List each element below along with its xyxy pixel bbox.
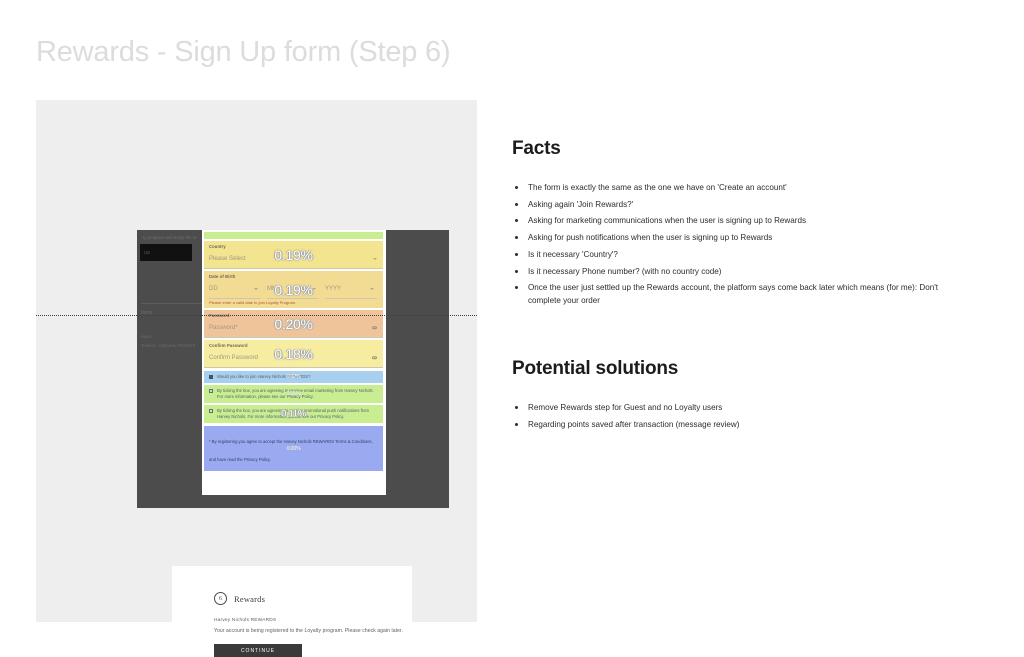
continue-button[interactable]: CONTINUE — [214, 644, 302, 657]
background-button[interactable]: UE — [140, 244, 192, 261]
signup-form-modal: Country Please Select 0.19% Date of Birt… — [202, 230, 386, 493]
facts-title: Facts — [512, 138, 942, 160]
checkbox-email-marketing[interactable]: By ticking the box, you are agreeing to … — [204, 385, 383, 403]
field-dob-day-value: DD — [209, 286, 218, 292]
field-dob-month-value: MM — [267, 286, 277, 292]
rewards-logo-icon: 6 — [214, 592, 227, 605]
chevron-down-icon — [254, 288, 258, 290]
field-dob-help: Please enter a valid date to join Loyalt… — [204, 299, 383, 308]
eye-icon[interactable] — [372, 326, 377, 329]
field-country-select[interactable]: Please Select — [204, 250, 383, 269]
card-message: Your account is being registered to the … — [214, 628, 403, 634]
terms-conditions-link[interactable]: Terms & Conditions — [335, 439, 371, 444]
terms-text-before: * By registering you agree to accept the… — [209, 439, 335, 444]
rewards-logo: 6 Rewards — [214, 592, 265, 605]
list-item: Is it necessary Phone number? (with no c… — [512, 265, 942, 278]
background-subtext-2: Telecoe, Holywell, Flintshire — [141, 343, 195, 348]
facts-list: The form is exactly the same as the one … — [512, 181, 942, 308]
list-item: The form is exactly the same as the one … — [512, 181, 942, 194]
background-divider — [141, 303, 203, 304]
field-date-of-birth[interactable]: Date of Birth DD MM YYYY — [204, 271, 383, 308]
app-heatmap-screenshot: ty program and enjoy the re UE tions ewe… — [137, 230, 449, 508]
field-dob-label: Date of Birth — [204, 271, 383, 280]
terms-and-conditions-block[interactable]: * By registering you agree to accept the… — [204, 426, 383, 471]
list-item: Asking for marketing communications when… — [512, 214, 942, 227]
field-dob-day[interactable]: DD — [209, 280, 261, 299]
field-dob-year-value: YYYY — [325, 286, 341, 292]
rewards-confirmation-card: 6 Rewards Harvey Nichols REWARDS Your ac… — [172, 566, 412, 657]
checkbox-push-notifications-box[interactable] — [209, 409, 213, 413]
checkbox-join-rewards[interactable]: Would you like to join Harvey Nichols RE… — [204, 371, 383, 383]
checkbox-email-marketing-label: By ticking the box, you are agreeing to … — [217, 388, 377, 400]
field-dob-selects[interactable]: DD MM YYYY — [204, 280, 383, 299]
field-dob-year[interactable]: YYYY — [325, 280, 377, 299]
field-confirm-password-value: Confirm Password — [209, 355, 258, 361]
field-password-value: Password* — [209, 325, 238, 331]
section-spacer — [512, 311, 942, 358]
list-item: Regarding points saved after transaction… — [512, 418, 942, 431]
field-confirm-password[interactable]: Confirm Password Confirm Password 0.18% — [204, 340, 383, 368]
list-item: Asking for push notifications when the u… — [512, 231, 942, 244]
page-title: Rewards - Sign Up form (Step 6) — [36, 36, 450, 69]
checkbox-join-rewards-box[interactable] — [209, 375, 213, 379]
heat-band-top — [204, 232, 383, 239]
field-confirm-password-label: Confirm Password — [204, 340, 383, 349]
chevron-down-icon — [312, 288, 316, 290]
field-country-value: Please Select — [209, 256, 246, 262]
checkbox-email-marketing-box[interactable] — [209, 389, 213, 393]
chevron-down-icon — [370, 288, 374, 290]
alignment-guide-line — [36, 315, 477, 316]
field-country[interactable]: Country Please Select 0.19% — [204, 241, 383, 269]
checkbox-push-notifications-label: By ticking the box, you are agreeing to … — [217, 408, 377, 420]
list-item: Once the user just settled up the Reward… — [512, 281, 942, 307]
checkbox-join-rewards-label: Would you like to join Harvey Nichols RE… — [217, 374, 311, 380]
potential-solutions-list: Remove Rewards step for Guest and no Loy… — [512, 401, 942, 431]
field-password-input[interactable]: Password* — [204, 319, 383, 338]
field-confirm-password-input[interactable]: Confirm Password — [204, 349, 383, 368]
notes-column: Facts The form is exactly the same as th… — [512, 138, 942, 435]
chevron-down-icon — [373, 258, 377, 260]
field-country-label: Country — [204, 241, 383, 250]
screenshot-panel: ty program and enjoy the re UE tions ewe… — [36, 100, 477, 622]
list-item: Is it necessary 'Country'? — [512, 248, 942, 261]
rewards-logo-text: Rewards — [234, 594, 265, 604]
slide-page: Rewards - Sign Up form (Step 6) ty progr… — [0, 0, 1024, 657]
privacy-policy-link[interactable]: Privacy Policy — [244, 457, 270, 462]
list-item: Asking again 'Join Rewards?' — [512, 198, 942, 211]
card-subtitle: Harvey Nichols REWARDS — [214, 618, 276, 623]
potential-solutions-title: Potential solutions — [512, 358, 942, 380]
field-dob-month[interactable]: MM — [267, 280, 319, 299]
background-subtext-1: ewes — [141, 334, 152, 339]
modal-footer-space — [202, 473, 386, 495]
list-item: Remove Rewards step for Guest and no Loy… — [512, 401, 942, 414]
eye-icon[interactable] — [372, 356, 377, 359]
terms-text-after: . — [270, 457, 271, 462]
checkbox-push-notifications[interactable]: By ticking the box, you are agreeing to … — [204, 405, 383, 423]
